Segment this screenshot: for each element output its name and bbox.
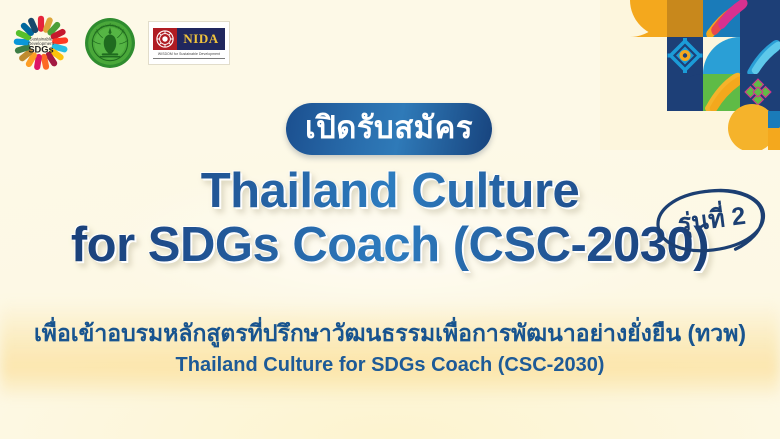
batch-stamp-label: รุ่นที่ 2 xyxy=(648,179,774,265)
nida-divider xyxy=(153,58,225,59)
nida-target-icon xyxy=(153,28,177,50)
subtitle-thai: เพื่อเข้าอบรมหลักสูตรที่ปรึกษาวัฒนธรรมเพ… xyxy=(0,320,780,348)
sdg-wheel-icon: Sustainable Development SDGs xyxy=(10,12,72,74)
poster-root: Sustainable Development SDGs xyxy=(0,0,780,439)
subtitle-block: เพื่อเข้าอบรมหลักสูตรที่ปรึกษาวัฒนธรรมเพ… xyxy=(0,320,780,377)
subtitle-english: Thailand Culture for SDGs Coach (CSC-203… xyxy=(0,353,780,377)
batch-stamp: รุ่นที่ 2 xyxy=(648,179,774,265)
open-registration-label: เปิดรับสมัคร xyxy=(305,112,473,146)
nida-wordmark: NIDA xyxy=(177,28,225,50)
logo-row: Sustainable Development SDGs xyxy=(10,12,230,74)
nida-logo: NIDA WISDOM for Sustainable Development xyxy=(148,21,230,65)
open-registration-badge[interactable]: เปิดรับสมัคร xyxy=(286,103,492,155)
decorative-mosaic xyxy=(600,0,780,150)
ministry-seal-icon: กระทรวงวัฒนธรรม xyxy=(84,17,136,69)
svg-text:SDGs: SDGs xyxy=(28,44,53,54)
nida-tagline: WISDOM for Sustainable Development xyxy=(153,52,225,57)
